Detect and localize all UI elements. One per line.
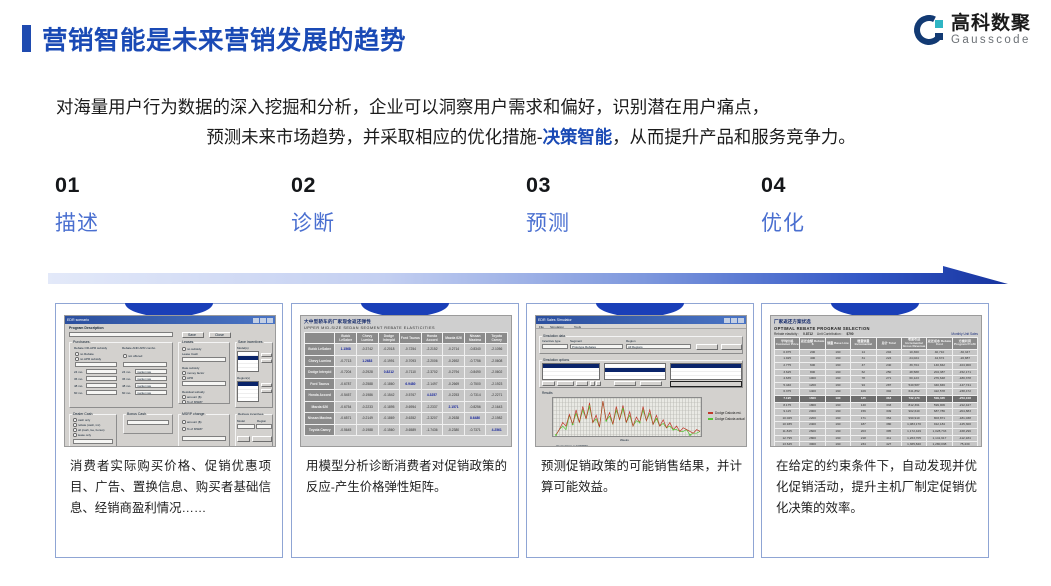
radio-no-apr-subsidy[interactable] [75,357,79,361]
listbox-measures[interactable] [670,363,742,380]
rebate-cell: 340,846 [927,382,952,389]
steps-row: 01 描述 02 诊断 03 预测 04 优化 [0,175,1051,255]
rebate-cell: 427 [876,442,901,447]
label-save-incentives: Save incentives [237,340,264,344]
rebate-cell: 10.935 [775,422,800,429]
radio-lease-only-label: lease only [78,433,91,437]
rebate-cell: 411 [876,435,901,442]
matrix-cell: -2.1056 [486,344,508,356]
rebate-cell: -238,472 [952,389,977,396]
input-term-60[interactable] [86,390,117,395]
input-term-48[interactable] [86,383,117,388]
rebate-elasticity-label: Rebate elasticity : [774,332,799,336]
term-label-24: 24 mo. [74,370,83,374]
rebate-cell: 1400 [800,389,825,396]
input-rebate-amount[interactable] [75,362,117,367]
rebate-cell: 10.025 [775,415,800,422]
intro-line-2-before: 预测未来市场趋势，并采取相应的优化措施- [206,127,542,147]
input-msrp-change[interactable] [182,436,226,441]
rebate-row: 2.7756001904724039,704140,842-104,900 [775,362,978,369]
rebate-cell: 349 [876,409,901,416]
rebate-cell: 125 [851,395,876,402]
chart-data-point [639,422,641,424]
menu-tools[interactable]: Tools [574,325,581,329]
matrix-cell: -0.8490 [464,367,486,379]
rebate-cell: 1,172,429 [901,428,926,435]
chart-data-point [689,434,691,436]
label-bonus-cash: Bonus Cash [126,412,147,416]
edit-button[interactable] [576,381,588,386]
matrix-cell: -0.2692 [443,355,465,367]
rebate-row: 11.84526001902033951,172,4291,028,733-16… [775,428,978,435]
rebate-cell: 600 [800,362,825,369]
rebate-row: 10.0252200190171364990,910803,871-181,03… [775,415,978,422]
matrix-row-header: Mazda 626 [305,401,335,413]
radio-not-offered[interactable] [123,354,127,358]
radio-residual-amount[interactable] [182,395,186,399]
intro-line-1: 对海量用户行为数据的深入挖掘和分析，企业可以洞察用户需求和偏好，识别潜在用户痛点… [48,92,1008,122]
label-rebate-and-apr: Rebate AND APR combo [122,346,155,350]
matrix-cell: -0.2638 [443,413,465,425]
list-item[interactable] [543,372,599,376]
list-item[interactable] [238,368,258,372]
remove-button[interactable] [557,381,574,386]
rebate-cell: 109 [851,389,876,396]
rebate-col-header: 增量销量 Incremental [851,338,876,350]
matrix-cell: -0.3742 [357,344,379,356]
save-button-label: Save [188,333,196,337]
market-rate-36: market rate [137,377,151,381]
label-simulation-options: Simulation options [542,358,570,362]
chart-data-point [605,420,607,422]
rebate-subheader: Rebate elasticity : 0.8712 Unit Contribu… [774,332,978,336]
rebate-cell: 40,710 [927,349,952,356]
window-buttons[interactable] [724,318,744,323]
matrix-cell: -0.1869 [378,413,400,425]
rebate-cell: -20,887 [952,356,977,363]
rebate-cell: 190 [825,428,850,435]
rebate-cell: 204 [876,349,901,356]
rebate-cell: 276,648 [927,376,952,383]
rebate-cell: 78 [851,376,876,383]
rebate-cell: 14 [851,349,876,356]
rebate-col-header: 销量 Base Line [825,338,850,350]
term-label-24-r: 24 mo. [122,370,131,374]
rebate-cell: -181,038 [952,415,977,422]
radio-msrp-amount[interactable] [182,420,186,424]
legend-swatch-actual [708,418,713,420]
rebate-cell: 2800 [800,435,825,442]
term-label-36: 36 mo. [74,377,83,381]
matrix-col-header: Dodge Intrepid [378,332,400,344]
matrix-cell: -0.2669 [443,378,465,390]
rebate-cell: 8.175 [775,402,800,409]
rebate-cell: 60,123 [901,376,926,383]
matrix-cell: -0.2233 [357,401,379,413]
intro-paragraph: 对海量用户行为数据的深入挖掘和分析，企业可以洞察用户需求和偏好，识别潜在用户痛点… [48,92,1008,152]
matrix-cell: -2.0608 [486,355,508,367]
matrix-cell: -0.8256 [464,401,486,413]
rebate-cell: 1,263,705 [901,435,926,442]
slide-header: 营销智能是未来营销发展的趋势 [22,20,1033,70]
radio-residual-pct-label: % of MSRP [187,400,203,404]
menu-file[interactable]: File [539,325,544,329]
matrix-cell: -0.5645 [335,424,357,436]
label-retrieve-incentives: Retrieve incentives [237,412,264,416]
market-rate-24: market rate [137,370,151,374]
rebate-cell: 39,704 [901,362,926,369]
matrix-header-row: Buick LeSabreChevy LuminaDodge IntrepidF… [305,332,508,344]
move-up-button[interactable] [590,381,595,386]
rebate-cell: 203 [851,428,876,435]
save-case-button[interactable] [721,344,742,350]
card-caption: 预测促销政策的可能销售结果，并计算可能效益。 [541,456,742,498]
window-body: File Simulation Tools Simulation data In… [536,324,746,446]
rebate-cell: 333 [876,402,901,409]
rebate-cell: 190 [825,369,850,376]
matrix-cell: -0.6954 [400,401,422,413]
input-rate-subsidy[interactable] [182,381,226,386]
matrix-cell: -0.2928 [357,367,379,379]
radio-money-factor-label: money factor [187,371,204,375]
matrix-cell: -0.6352 [400,413,422,425]
matrix-cell: -2.1643 [486,401,508,413]
input-apr-amount[interactable] [123,362,167,367]
matrix-cell: -0.1988 [357,424,379,436]
clear-all-models-button[interactable] [261,359,272,363]
matrix-cell: -0.2253 [443,390,465,402]
rebate-row: 4.63510001907827160,123276,648-180,378 [775,376,978,383]
listbox-regions[interactable] [237,381,259,402]
radio-not-offered-label: not offered [128,354,142,358]
rebate-cell: 44,672 [927,356,952,363]
listbox-models[interactable] [237,351,259,372]
select-region[interactable] [256,424,272,429]
rebate-cell: 200 [800,349,825,356]
window-buttons[interactable] [253,318,273,323]
matrix-row-header: Buick LeSabre [305,344,335,356]
matrix-cell: -0.7314 [464,390,486,402]
matrix-cell: -0.7093 [400,355,422,367]
matrix-cell: 4.3257 [421,390,443,402]
chart-data-point [622,408,624,410]
radio-no-rebate[interactable] [75,352,79,356]
matrix-row-header: Honda Accord [305,390,335,402]
term-label-60-r: 60 mo. [122,391,131,395]
card-predict[interactable]: EDR Sales Simulator File Simulation Tool… [526,303,754,558]
step-number: 02 [291,175,335,197]
card-describe[interactable]: EDR scenario Program Description Save Cl… [55,303,283,558]
radio-money-factor[interactable] [182,371,186,375]
radio-msrp-pct-label: % of MSRP [187,427,203,431]
card-diagnose[interactable]: 大中型轿车的厂家现金返还弹性 UPPER MID-SIZE SEDAN SEGM… [291,303,519,558]
radio-lease-only[interactable] [73,433,77,437]
clear-all-regions-button[interactable] [261,389,272,393]
rebate-cell: 812,361 [901,402,926,409]
input-lease-cash[interactable] [182,357,226,362]
select-all-models-button[interactable] [261,353,272,357]
rebate-cell: 224 [876,356,901,363]
matrix-col-header: Toyota Camry [486,332,508,344]
step-number: 03 [526,175,570,197]
matrix-row: Chevy Lumina-0.77131.2683-0.1991-0.7093-… [305,355,508,367]
rebate-cell: 687,786 [927,409,952,416]
window-title: EDR Sales Simulator [538,318,572,322]
rebate-row: 10.93524001901873801,083,170912,184-125,… [775,422,978,429]
radio-cash-only[interactable] [73,418,77,422]
radio-all-cash[interactable] [73,428,77,432]
cards-row: EDR scenario Program Description Save Cl… [0,303,1051,563]
rebate-cell: 3.625 [775,369,800,376]
rebate-cell: 234 [851,442,876,447]
input-dealer-cash-value[interactable] [73,439,113,444]
rebate-cell: 156 [851,409,876,416]
rebate-cell: 2.775 [775,362,800,369]
matrix-cell: -0.1991 [378,355,400,367]
load-case-button[interactable] [696,344,718,350]
input-term-24[interactable] [86,369,117,374]
step-label: 优化 [761,213,805,234]
radio-no-apr-subsidy-label: no APR subsidy [80,357,101,361]
radio-no-subsidy[interactable] [182,347,186,351]
rebate-cell: 240 [876,362,901,369]
rebate-cell: 509,335 [927,395,952,402]
list-item[interactable] [605,376,665,380]
radio-rebate-cash-inc[interactable] [73,423,77,427]
rebate-col-header: 增量收益 Incremental Gross Revenue [901,338,926,350]
rebate-cell: 599,906 [927,402,952,409]
list-item[interactable] [671,372,741,376]
simulation-chart [552,397,702,437]
matrix-cell: -0.6754 [335,401,357,413]
rebate-cell: 2400 [800,422,825,429]
select-all-button[interactable] [614,381,636,386]
step-label: 预测 [526,213,570,234]
matrix-cell: -2.2006 [421,355,443,367]
matrix-cell: -2.2152 [421,344,443,356]
matrix-cell: -0.7371 [464,424,486,436]
chart-data-point [589,406,591,408]
label-results: Results [542,391,553,395]
matrix-cell: -0.2588 [357,378,379,390]
rebate-cell: 318 [876,395,901,402]
list-item[interactable] [238,398,258,402]
radio-apr[interactable] [182,376,186,380]
rebate-cell: 62 [851,369,876,376]
matrix-row-header: Ford Taurus [305,378,335,390]
matrix-row: Mazda 626-0.6754-0.2233-0.1895-0.6954-2.… [305,401,508,413]
card-caption: 消费者实际购买价格、促销优惠项目、广告、置换信息、购买者基础信息、经销商盈利情况… [70,456,271,519]
unit-contribution-label: Unit Contribution : [817,332,843,336]
label-incentive-type: Incentive type [542,339,561,343]
graph-button[interactable] [670,381,742,387]
matrix-cell: -0.2714 [443,344,465,356]
rebate-cell: 24,024 [901,356,926,363]
rebate-cell: 4.635 [775,376,800,383]
rebate-col-header: 平均价格 Customer Price [775,338,800,350]
legend-label-est: Dodge Dakota est. [715,411,741,415]
matrix-cell: -0.2018 [378,344,400,356]
radio-msrp-amount-label: amount ($) [187,420,202,424]
matrix-col-header: Buick LeSabre [335,332,357,344]
matrix-cell: -2.1982 [486,413,508,425]
rebate-cell: -180,378 [952,376,977,383]
rebate-row: 3.6258001906225048,588204,387-152,171 [775,369,978,376]
logo-chip-teal [935,20,943,28]
matrix-cell: -0.1895 [378,401,400,413]
close-button-label: Close [215,333,224,337]
rebate-cell: 7.195 [775,395,800,402]
market-rate-60: market rate [137,391,151,395]
rebate-header-row: 平均价格 Customer Price返还金额 Rebate $销量 Base … [775,338,978,350]
chart-series-svg [553,398,703,438]
rebate-cell: 1,028,733 [927,428,952,435]
chart-data-point [572,424,574,426]
input-term-36[interactable] [86,376,117,381]
move-down-button[interactable] [596,381,601,386]
card-optimize[interactable]: 厂家返还方案优选 OPTIMAL REBATE PROGRAM SELECTIO… [761,303,989,558]
listbox-scenarios[interactable] [542,363,600,380]
select-model[interactable] [237,424,255,429]
matrix-cell: -0.7713 [335,355,357,367]
label-regions: Region(s) [237,376,250,380]
matrix-cell: -2.1923 [486,378,508,390]
window-title: EDR scenario [67,318,89,322]
rebate-cell: 190 [825,409,850,416]
label-segment: Segment [570,339,582,343]
rebate-col-header: 返还成本 Rebate Cost [927,338,952,350]
chart-xlabel: Weeks [620,438,629,442]
rebate-cell: 9.115 [775,409,800,416]
window-body: Program Description Save Close Purchases… [65,324,275,446]
logo-ring-shape [910,11,948,49]
chart-data-point [672,429,674,431]
matrix-cell: -0.6589 [400,424,422,436]
rebate-table-wrap: 厂家返还方案优选 OPTIMAL REBATE PROGRAM SELECTIO… [771,316,981,446]
rebate-cell: 1,083,170 [901,422,926,429]
card-screenshot-rebate-table: 厂家返还方案优选 OPTIMAL REBATE PROGRAM SELECTIO… [770,315,982,447]
rebate-cell: 190 [825,349,850,356]
select-all-regions-button[interactable] [261,383,272,387]
label-model: Model [237,419,245,423]
radio-msrp-pct[interactable] [182,427,186,431]
select-region-value: All Regions [628,345,643,349]
rebate-cell: 47 [851,362,876,369]
clear-all-button[interactable] [640,381,662,386]
rebate-cell: 31 [851,356,876,363]
rebate-cell: 190 [825,362,850,369]
rebate-cell: 287 [876,382,901,389]
rebate-cell: 400 [800,356,825,363]
radio-cash-only-label: cash only [78,418,90,422]
rebate-row: 9.1152000190156349902,640687,786-204,883 [775,409,978,416]
menu-simulation[interactable]: Simulation [550,325,564,329]
clear-button[interactable] [237,436,250,442]
listbox-models[interactable] [604,363,666,380]
select-incentive-type[interactable] [542,344,568,349]
rebate-cell: 395 [876,428,901,435]
label-residual-subsidy: Residual subsidy [182,390,205,394]
radio-all-cash-label: all (cash, lse, bonus) [78,428,105,432]
rebate-cell: 250 [876,369,901,376]
rebate-cell: 190 [825,415,850,422]
card-screenshot-dialog: EDR scenario Program Description Save Cl… [64,315,276,447]
matrix-cell: -0.1542 [378,390,400,402]
rebate-cell: 732,170 [901,395,926,402]
gausscode-logo-icon [914,15,944,45]
menu-bar[interactable] [536,324,746,329]
label-simulation-data: Simulation data [542,334,566,338]
rebate-row: 7.1951600190125318732,170509,335-253,108 [775,395,978,402]
radio-residual-amount-label: amount ($) [187,395,202,399]
rebate-cell: -112,184 [952,435,977,442]
rebate-row: 5.440120019094287540,587340,846-147,741 [775,382,978,389]
rebate-cell: 803,871 [927,415,952,422]
add-button[interactable] [542,381,555,386]
rebate-table: 平均价格 Customer Price返还金额 Rebate $销量 Base … [774,337,978,447]
rebate-cell: 94 [851,382,876,389]
rebate-col-header: 方案利润 Program Profit [952,338,977,350]
matrix-cell: -0.5457 [335,390,357,402]
matrix-row: Dodge Intrepid-0.7204-0.29280.8212-0.711… [305,367,508,379]
matrix-cell: -0.2380 [443,424,465,436]
matrix-corner-cell [305,332,335,344]
matrix-body: Buick LeSabre1.1568-0.3742-0.2018-0.7254… [305,344,508,436]
label-dealer-cash: Dealer Cash [72,412,93,416]
step-number: 01 [55,175,99,197]
rebate-cell: 1800 [800,402,825,409]
matrix-cell: 6.9480 [400,378,422,390]
step-block-4: 04 优化 [761,175,805,234]
restore-environment-button[interactable] [252,436,272,442]
radio-rebate-cash-inc-label: rebate (cash, inc) [78,423,100,427]
rebate-cell: -212,427 [952,402,977,409]
card-screenshot-matrix: 大中型轿车的厂家现金返还弹性 UPPER MID-SIZE SEDAN SEGM… [300,315,512,447]
rebate-cell: 641,852 [901,389,926,396]
rebate-cell: 13.645 [775,442,800,447]
rebate-cell: 190 [825,395,850,402]
matrix-cell: -0.8340 [464,344,486,356]
elasticity-matrix: 大中型轿车的厂家现金返还弹性 UPPER MID-SIZE SEDAN SEGM… [301,316,511,446]
rebate-cell: 6.375 [775,389,800,396]
matrix-col-header: Chevy Lumina [357,332,379,344]
rebate-body: 0.9752001901420410,36040,710-30,3471.925… [775,349,978,447]
rebate-cell: 2600 [800,428,825,435]
legend-swatch-est [708,412,713,414]
rebate-cell: 140,842 [927,362,952,369]
matrix-cell: -0.1560 [378,424,400,436]
brand-logo: 高科数聚 Gausscode [914,14,1031,47]
matrix-cell: 4.2561 [486,424,508,436]
rebate-cell: 5.440 [775,382,800,389]
input-program-description[interactable] [69,332,173,337]
radio-residual-pct[interactable] [182,400,186,404]
rebate-cell: 540,587 [901,382,926,389]
term-label-48: 48 mo. [74,384,83,388]
matrix-cell: -0.5767 [400,390,422,402]
input-bonus-cash[interactable] [127,420,169,425]
unit-contribution-value: $790 [846,332,853,336]
matrix-cell: -0.7500 [464,378,486,390]
rebate-cell: 380 [876,422,901,429]
matrix-col-header: Ford Taurus [400,332,422,344]
label-lease-cash: Lease Cash [182,352,198,356]
rebate-cell: 10,360 [901,349,926,356]
rebate-cell: 3000 [800,442,825,447]
rebate-cell: 171 [851,415,876,422]
rebate-cell: 187 [851,422,876,429]
matrix-cell: -0.1986 [357,390,379,402]
